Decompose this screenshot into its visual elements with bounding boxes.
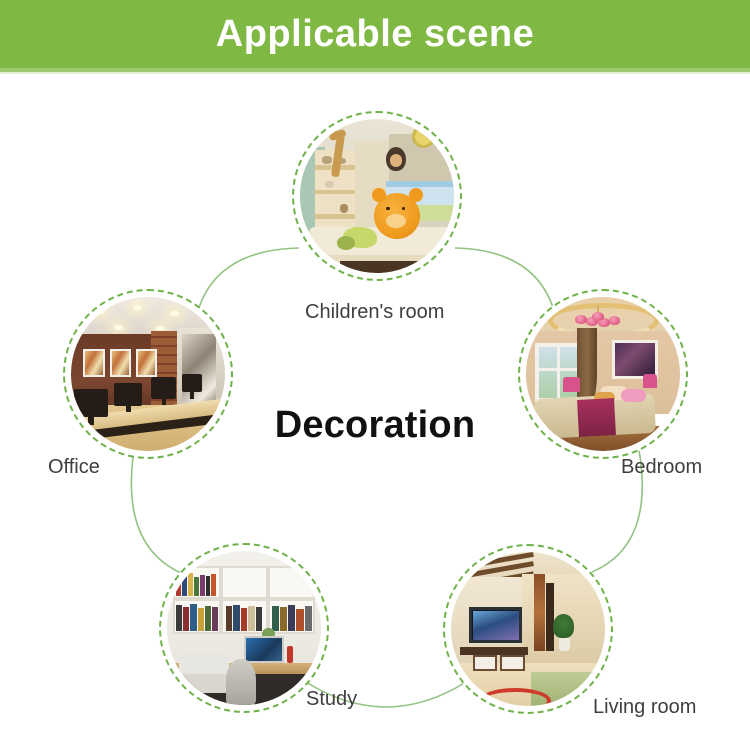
study-artwork bbox=[167, 551, 321, 705]
living-room-photo bbox=[451, 552, 605, 706]
office-label: Office bbox=[48, 456, 100, 479]
scene-childrens-room[interactable]: Children's room bbox=[292, 111, 462, 281]
childrens-room-label: Children's room bbox=[305, 301, 444, 324]
header-divider-light bbox=[0, 72, 750, 74]
living-room-label: Living room bbox=[593, 696, 696, 719]
study-photo bbox=[167, 551, 321, 705]
bedroom-photo bbox=[526, 297, 680, 451]
scene-office[interactable]: Office bbox=[63, 289, 233, 459]
page-title: Applicable scene bbox=[216, 13, 534, 56]
scene-bedroom[interactable]: Bedroom bbox=[518, 289, 688, 459]
bedroom-artwork bbox=[526, 297, 680, 451]
bedroom-label: Bedroom bbox=[621, 456, 702, 479]
study-label: Study bbox=[306, 688, 357, 711]
childrens-room-photo bbox=[300, 119, 454, 273]
office-photo bbox=[71, 297, 225, 451]
living-room-artwork bbox=[451, 552, 605, 706]
scene-diagram-page: Applicable scene Decoration bbox=[0, 0, 750, 750]
page-header-banner: Applicable scene bbox=[0, 0, 750, 68]
office-artwork bbox=[71, 297, 225, 451]
scene-living-room[interactable]: Living room bbox=[443, 544, 613, 714]
scene-study[interactable]: Study bbox=[159, 543, 329, 713]
childrens-room-artwork bbox=[300, 119, 454, 273]
